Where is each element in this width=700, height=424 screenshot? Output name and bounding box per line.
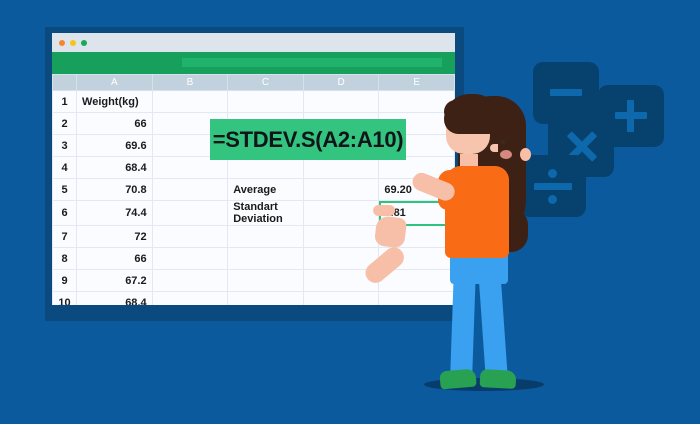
shoe-left	[439, 368, 476, 389]
cell-b8[interactable]	[152, 248, 228, 270]
row-header-7[interactable]: 7	[53, 226, 77, 248]
cell-a5[interactable]: 70.8	[77, 179, 153, 201]
row-header-1[interactable]: 1	[53, 91, 77, 113]
plus-glyph-v	[627, 100, 634, 132]
pointing-finger	[373, 205, 395, 216]
cell-c5[interactable]: Average	[228, 179, 304, 201]
cell-d10[interactable]	[303, 292, 379, 306]
row-header-6[interactable]: 6	[53, 201, 77, 226]
cell-c1[interactable]	[228, 91, 304, 113]
cell-d5[interactable]	[303, 179, 379, 201]
cell-b7[interactable]	[152, 226, 228, 248]
cell-b9[interactable]	[152, 270, 228, 292]
sheet-table[interactable]: A B C D E 1 Weight(kg)	[52, 74, 455, 305]
close-icon[interactable]	[59, 40, 65, 46]
column-header-d[interactable]: D	[303, 75, 379, 91]
column-header-b[interactable]: B	[152, 75, 228, 91]
minus-glyph	[550, 89, 582, 96]
cell-d6[interactable]	[303, 201, 379, 226]
cell-b10[interactable]	[152, 292, 228, 306]
row-header-4[interactable]: 4	[53, 157, 77, 179]
eye	[501, 140, 505, 144]
cell-c6[interactable]: Standart Deviation	[228, 201, 304, 226]
row-header-5[interactable]: 5	[53, 179, 77, 201]
cell-a3[interactable]: 69.6	[77, 135, 153, 157]
nose	[490, 144, 498, 152]
cell-b6[interactable]	[152, 201, 228, 226]
window-titlebar	[52, 33, 455, 52]
shoe-right	[480, 369, 517, 389]
table-row: 5 70.8 Average 69.20	[53, 179, 455, 201]
hair-fringe	[444, 100, 470, 120]
cell-d7[interactable]	[303, 226, 379, 248]
formula-bar[interactable]	[182, 58, 442, 67]
table-row: 9 67.2	[53, 270, 455, 292]
cell-a7[interactable]: 72	[77, 226, 153, 248]
cell-b1[interactable]	[152, 91, 228, 113]
cell-a9[interactable]: 67.2	[77, 270, 153, 292]
cell-a4[interactable]: 68.4	[77, 157, 153, 179]
cell-c8[interactable]	[228, 248, 304, 270]
leg-left	[450, 268, 476, 381]
maximize-icon[interactable]	[81, 40, 87, 46]
scene: A B C D E 1 Weight(kg)	[0, 0, 700, 424]
cell-c9[interactable]	[228, 270, 304, 292]
row-header-9[interactable]: 9	[53, 270, 77, 292]
row-header-2[interactable]: 2	[53, 113, 77, 135]
cheek	[500, 150, 512, 159]
table-row: 10 68.4	[53, 292, 455, 306]
cell-b5[interactable]	[152, 179, 228, 201]
row-header-8[interactable]: 8	[53, 248, 77, 270]
cell-a2[interactable]: 66	[77, 113, 153, 135]
select-all-corner[interactable]	[53, 75, 77, 91]
column-header-a[interactable]: A	[77, 75, 153, 91]
ear	[520, 148, 531, 161]
sheet-grid[interactable]: A B C D E 1 Weight(kg)	[52, 74, 455, 305]
app-toolbar[interactable]	[52, 52, 455, 74]
column-header-row: A B C D E	[53, 75, 455, 91]
cell-a8[interactable]: 66	[77, 248, 153, 270]
cell-d1[interactable]	[303, 91, 379, 113]
cell-a6[interactable]: 74.4	[77, 201, 153, 226]
woman-illustration	[398, 78, 553, 408]
cell-a10[interactable]: 68.4	[77, 292, 153, 306]
column-header-c[interactable]: C	[228, 75, 304, 91]
row-header-3[interactable]: 3	[53, 135, 77, 157]
row-header-10[interactable]: 10	[53, 292, 77, 306]
cell-a1[interactable]: Weight(kg)	[77, 91, 153, 113]
cell-c10[interactable]	[228, 292, 304, 306]
table-row: 1 Weight(kg)	[53, 91, 455, 113]
hand	[374, 215, 407, 248]
minimize-icon[interactable]	[70, 40, 76, 46]
cell-c7[interactable]	[228, 226, 304, 248]
formula-callout: =STDEV.S(A2:A10)	[210, 119, 406, 160]
leg-right	[478, 267, 508, 380]
